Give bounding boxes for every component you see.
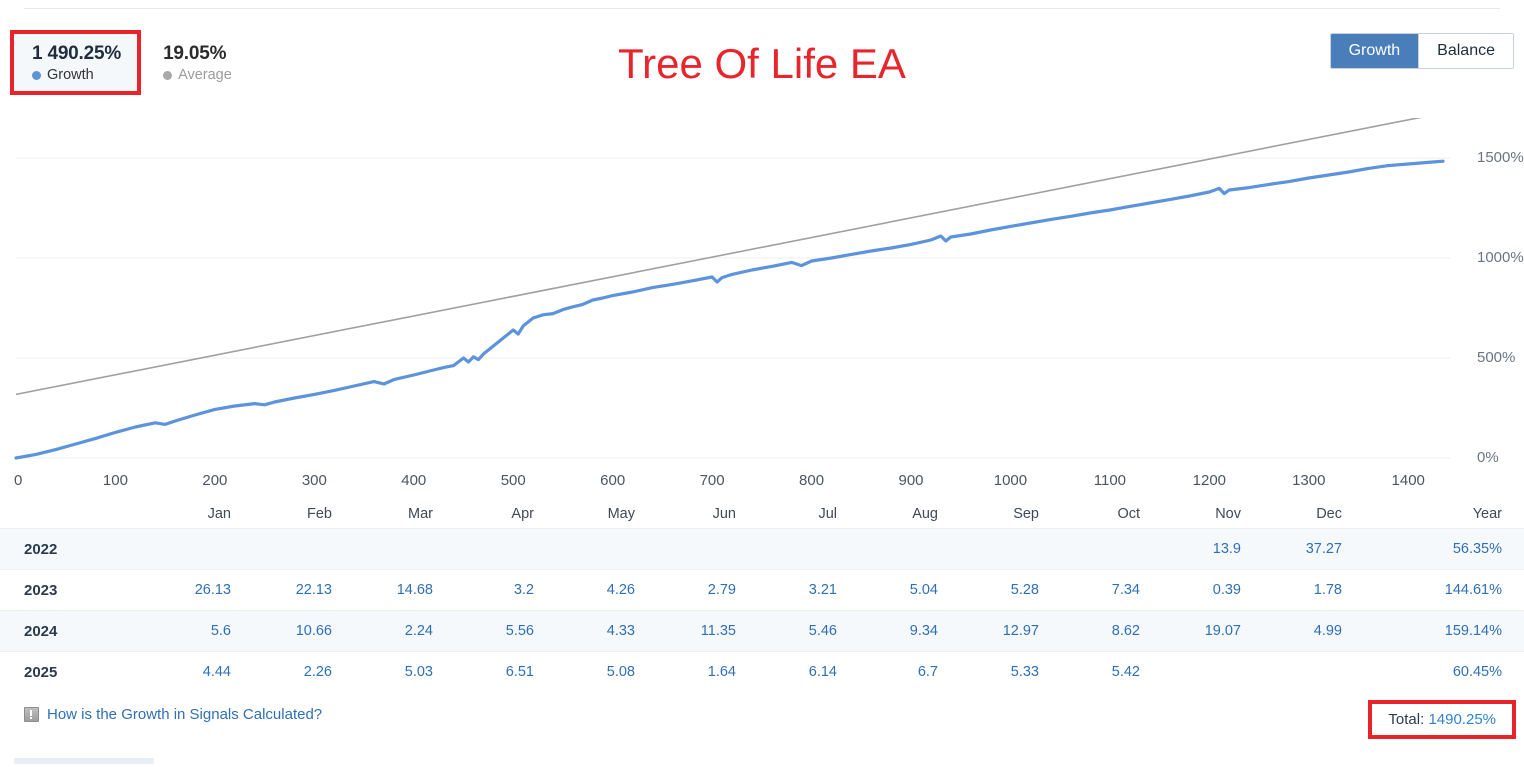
y-axis-tick: 1500% (1477, 149, 1524, 166)
table-cell-month: 5.28 (960, 570, 1061, 611)
y-axis-tick: 500% (1477, 349, 1515, 366)
table-cell-year: 2025 (0, 652, 152, 693)
y-axis-tick: 0% (1477, 449, 1499, 466)
table-cell-month: 9.34 (859, 611, 960, 652)
growth-series-line (16, 161, 1443, 458)
x-axis-tick: 1300 (1292, 472, 1325, 489)
info-icon (24, 707, 39, 722)
table-cell-month: 5.03 (354, 652, 455, 693)
bottom-progress-bar (14, 758, 154, 764)
table-cell-month (1061, 529, 1162, 570)
top-divider (24, 8, 1500, 9)
x-axis-tick: 100 (103, 472, 128, 489)
page-title: Tree Of Life EA (0, 40, 1524, 88)
table-cell-month: 10.66 (253, 611, 354, 652)
table-cell-year: 2024 (0, 611, 152, 652)
x-axis-tick: 300 (302, 472, 327, 489)
growth-chart-page: 1 490.25% Growth 19.05% Average Tree Of … (0, 0, 1524, 767)
table-cell-month: 1.64 (657, 652, 758, 693)
col-header-dec: Dec (1263, 500, 1364, 529)
table-cell-month (253, 529, 354, 570)
table-cell-month: 5.08 (556, 652, 657, 693)
table-cell-month (758, 529, 859, 570)
table-cell-year-total: 60.45% (1364, 652, 1524, 693)
x-axis-tick: 900 (898, 472, 923, 489)
col-header-feb: Feb (253, 500, 354, 529)
table-cell-month: 5.56 (455, 611, 556, 652)
table-cell-month: 2.24 (354, 611, 455, 652)
growth-chart[interactable] (0, 118, 1524, 470)
table-cell-month: 12.97 (960, 611, 1061, 652)
x-axis-tick: 700 (700, 472, 725, 489)
col-header-sep: Sep (960, 500, 1061, 529)
table-cell-month: 0.39 (1162, 570, 1263, 611)
table-cell-month: 5.04 (859, 570, 960, 611)
table-cell-month: 26.13 (152, 570, 253, 611)
table-cell-month: 4.99 (1263, 611, 1364, 652)
table-cell-month: 5.42 (1061, 652, 1162, 693)
table-cell-month: 5.33 (960, 652, 1061, 693)
x-axis-tick: 1000 (994, 472, 1027, 489)
table-cell-month: 4.44 (152, 652, 253, 693)
col-header-mar: Mar (354, 500, 455, 529)
tab-balance[interactable]: Balance (1419, 34, 1513, 68)
monthly-returns-table: Jan Feb Mar Apr May Jun Jul Aug Sep Oct … (0, 500, 1524, 692)
table-cell-month: 2.26 (253, 652, 354, 693)
table-cell-month: 37.27 (1263, 529, 1364, 570)
table-cell-month: 6.14 (758, 652, 859, 693)
x-axis-tick: 500 (501, 472, 526, 489)
x-axis-tick: 0 (14, 472, 22, 489)
x-axis-tick: 400 (401, 472, 426, 489)
table-cell-year-total: 56.35% (1364, 529, 1524, 570)
x-axis-tick: 1200 (1193, 472, 1226, 489)
view-toggle[interactable]: Growth Balance (1330, 33, 1514, 69)
table-cell-month: 5.46 (758, 611, 859, 652)
table-cell-month: 6.7 (859, 652, 960, 693)
total-value: 1490.25% (1428, 711, 1496, 728)
x-axis-tick: 1100 (1094, 472, 1126, 489)
table-cell-month (455, 529, 556, 570)
table-cell-month: 2.79 (657, 570, 758, 611)
table-row: 20245.610.662.245.564.3311.355.469.3412.… (0, 611, 1524, 652)
how-calculated-link-wrap[interactable]: How is the Growth in Signals Calculated? (24, 706, 322, 723)
table-cell-month: 13.9 (1162, 529, 1263, 570)
table-cell-month: 5.6 (152, 611, 253, 652)
col-header-nov: Nov (1162, 500, 1263, 529)
table-cell-year-total: 144.61% (1364, 570, 1524, 611)
table-cell-month: 3.2 (455, 570, 556, 611)
col-header-apr: Apr (455, 500, 556, 529)
x-axis-tick: 200 (202, 472, 227, 489)
table-cell-month: 8.62 (1061, 611, 1162, 652)
col-header-aug: Aug (859, 500, 960, 529)
table-row: 202213.937.2756.35% (0, 529, 1524, 570)
y-axis-tick: 1000% (1477, 249, 1524, 266)
table-cell-month: 3.21 (758, 570, 859, 611)
table-cell-year: 2023 (0, 570, 152, 611)
tab-growth[interactable]: Growth (1331, 34, 1419, 68)
table-cell-month: 7.34 (1061, 570, 1162, 611)
table-cell-month: 6.51 (455, 652, 556, 693)
x-axis-tick: 800 (799, 472, 824, 489)
table-row: 202326.1322.1314.683.24.262.793.215.045.… (0, 570, 1524, 611)
how-calculated-link[interactable]: How is the Growth in Signals Calculated? (47, 706, 322, 723)
table-cell-month: 4.26 (556, 570, 657, 611)
table-cell-month: 11.35 (657, 611, 758, 652)
col-header-jan: Jan (152, 500, 253, 529)
x-axis-tick: 600 (600, 472, 625, 489)
col-header-year: Year (1364, 500, 1524, 529)
col-header-jul: Jul (758, 500, 859, 529)
table-cell-month: 14.68 (354, 570, 455, 611)
col-header-oct: Oct (1061, 500, 1162, 529)
table-cell-month: 4.33 (556, 611, 657, 652)
col-header-jun: Jun (657, 500, 758, 529)
table-cell-month (354, 529, 455, 570)
table-cell-month (1263, 652, 1364, 693)
y-axis-labels: 0%500%1000%1500% (1455, 118, 1524, 470)
table-cell-year: 2022 (0, 529, 152, 570)
col-header-may: May (556, 500, 657, 529)
chart-canvas (0, 118, 1450, 470)
col-header-year-blank (0, 500, 152, 529)
table-cell-month: 19.07 (1162, 611, 1263, 652)
table-cell-month: 22.13 (253, 570, 354, 611)
table-cell-month (152, 529, 253, 570)
x-axis-tick: 1400 (1392, 472, 1425, 489)
table-row: 20254.442.265.036.515.081.646.146.75.335… (0, 652, 1524, 693)
table-cell-month (960, 529, 1061, 570)
chart-gridlines (16, 158, 1450, 458)
total-label: Total: (1388, 711, 1424, 728)
table-cell-month (657, 529, 758, 570)
table-cell-month: 1.78 (1263, 570, 1364, 611)
chart-footer: How is the Growth in Signals Calculated?… (0, 700, 1524, 740)
total-badge: Total: 1490.25% (1368, 700, 1516, 739)
table-cell-year-total: 159.14% (1364, 611, 1524, 652)
table-cell-month (1162, 652, 1263, 693)
table-cell-month (859, 529, 960, 570)
table-cell-month (556, 529, 657, 570)
average-series-line (16, 118, 1448, 394)
table-header-row: Jan Feb Mar Apr May Jun Jul Aug Sep Oct … (0, 500, 1524, 529)
